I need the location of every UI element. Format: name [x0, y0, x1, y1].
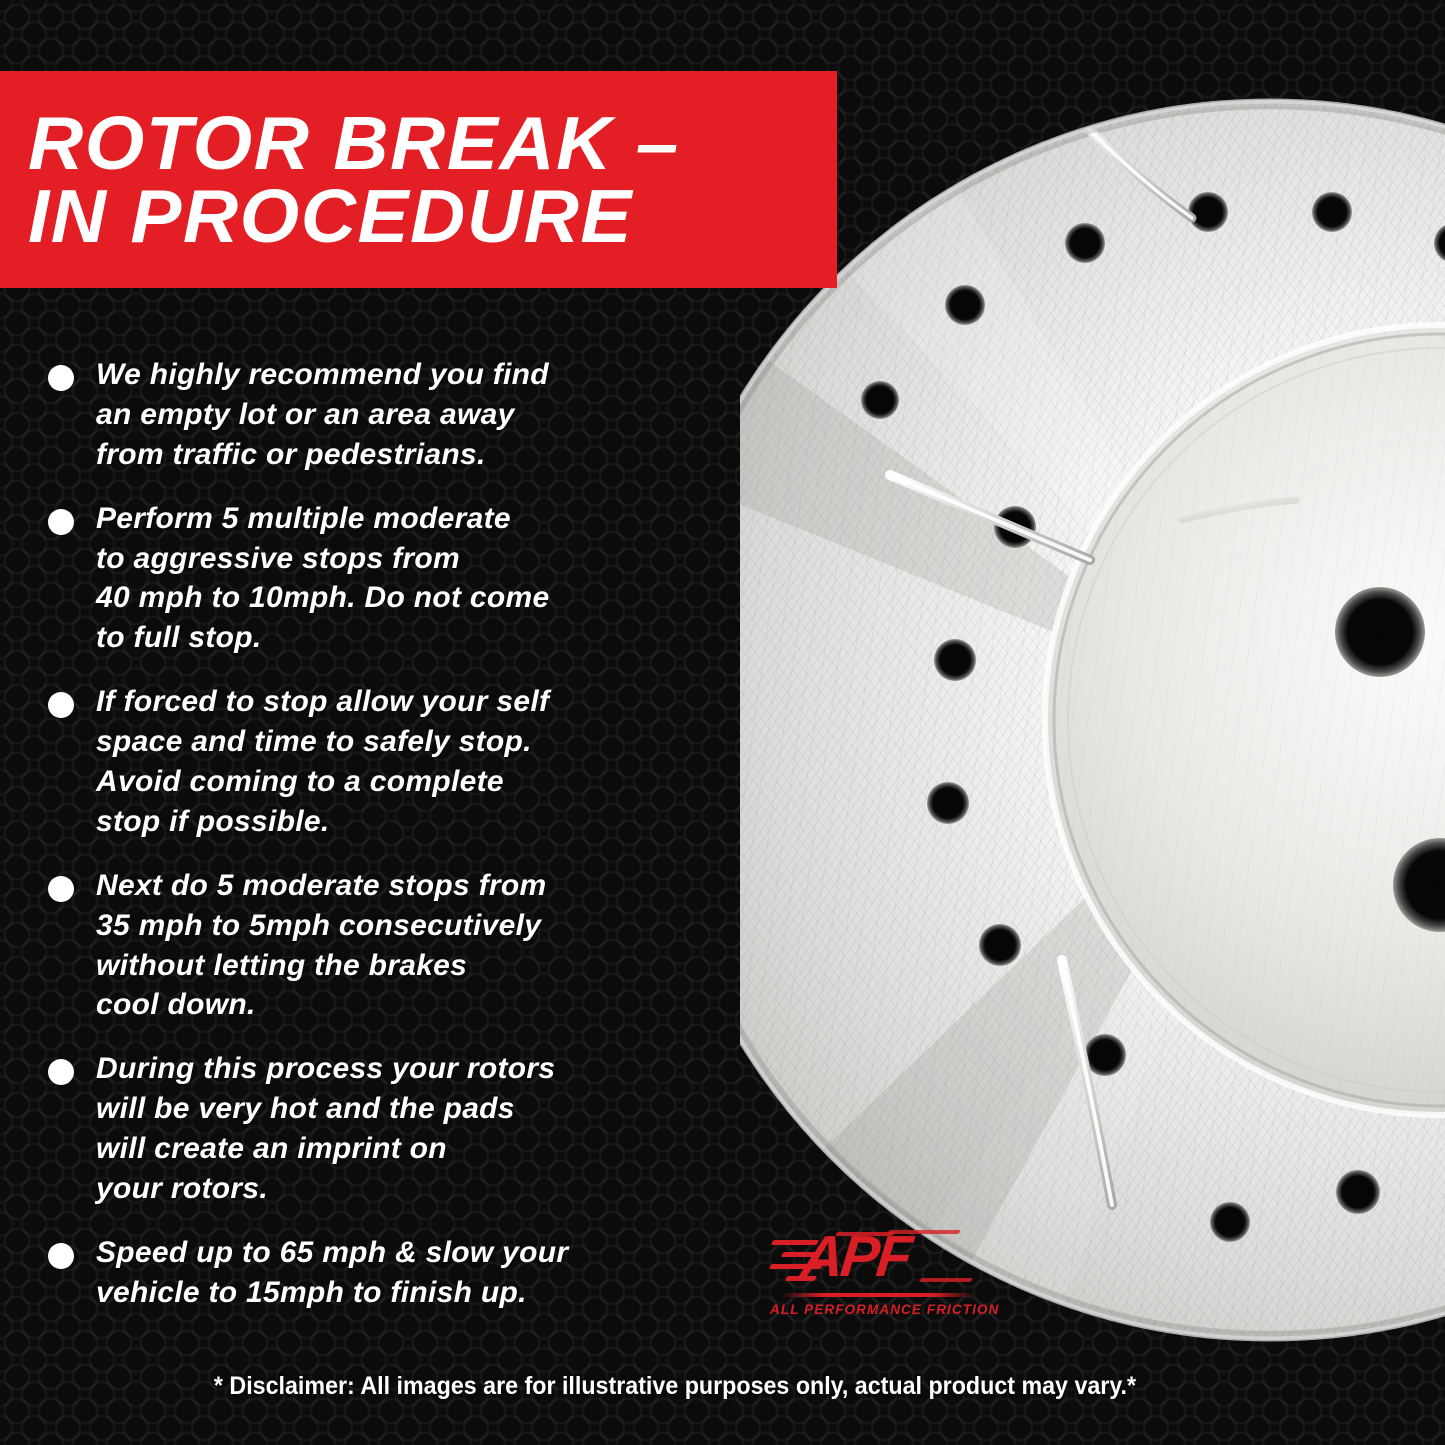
list-item-text: We highly recommend you find an empty lo… — [96, 355, 549, 475]
procedure-step-list: We highly recommend you find an empty lo… — [48, 355, 793, 1337]
disclaimer-text: * Disclaimer: All images are for illustr… — [47, 1372, 1303, 1401]
list-item-text: Speed up to 65 mph & slow your vehicle t… — [96, 1233, 568, 1313]
bullet-dot-icon — [48, 1059, 74, 1085]
apf-tagline: ALL PERFORMANCE FRICTION — [770, 1302, 985, 1317]
bullet-dot-icon — [48, 1243, 74, 1269]
bullet-dot-icon — [48, 876, 74, 902]
speed-streak-icon — [919, 1278, 973, 1282]
list-item-text: If forced to stop allow your self space … — [96, 682, 549, 842]
bullet-dot-icon — [48, 365, 74, 391]
apf-logo-divider — [780, 1293, 976, 1297]
apf-wordmark: APF — [799, 1228, 912, 1286]
infographic-page: ROTOR BREAK – IN PROCEDURE We highly rec… — [0, 0, 1445, 1445]
list-item: Perform 5 multiple moderate to aggressiv… — [48, 499, 793, 659]
title-banner: ROTOR BREAK – IN PROCEDURE — [0, 71, 837, 288]
title-line-2: IN PROCEDURE — [28, 180, 853, 253]
list-item: If forced to stop allow your self space … — [48, 682, 793, 842]
bullet-dot-icon — [48, 692, 74, 718]
list-item: We highly recommend you find an empty lo… — [48, 355, 793, 475]
list-item-text: Perform 5 multiple moderate to aggressiv… — [96, 499, 549, 659]
list-item: Next do 5 moderate stops from 35 mph to … — [48, 866, 793, 1026]
bullet-dot-icon — [48, 509, 74, 535]
list-item-text: During this process your rotors will be … — [96, 1049, 555, 1209]
list-item: During this process your rotors will be … — [48, 1049, 793, 1209]
list-item-text: Next do 5 moderate stops from 35 mph to … — [96, 866, 546, 1026]
list-item: Speed up to 65 mph & slow your vehicle t… — [48, 1233, 793, 1313]
apf-logo: APF ALL PERFORMANCE FRICTION — [770, 1228, 985, 1323]
title-line-1: ROTOR BREAK – — [28, 107, 853, 180]
